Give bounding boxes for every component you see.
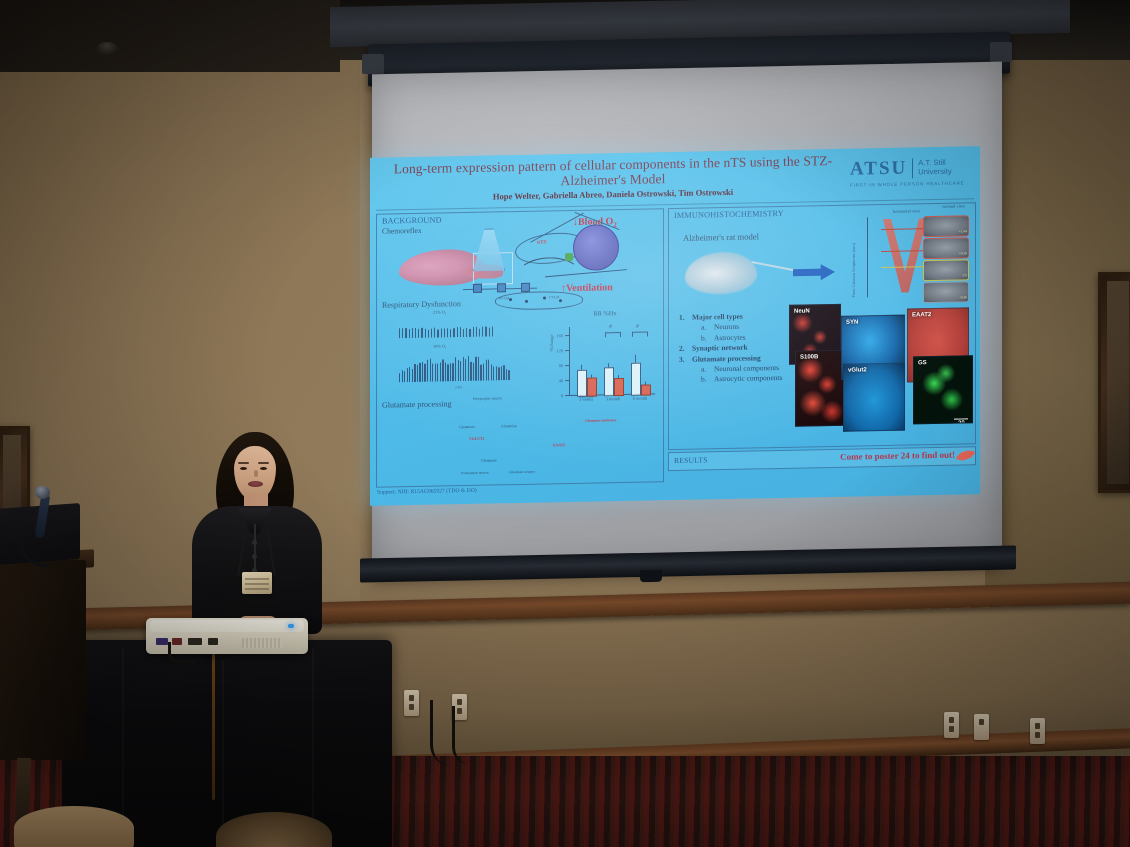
micrograph-gs: GS 20 µm xyxy=(913,355,973,424)
chart-significance-marker: # xyxy=(609,324,612,330)
trace-scalebar-label: 2 sec xyxy=(455,385,462,389)
respiratory-trace xyxy=(399,314,495,338)
chart-y-tick-label: 0 xyxy=(551,393,563,398)
chart-errorbar xyxy=(645,382,646,385)
rr-hypoxia-bar-chart: RR %Hx %change 040801201603 weeks3 month… xyxy=(553,319,657,413)
glutamate-label: Glutamate xyxy=(459,425,475,429)
funding-support-text: Support: NIH: R15AG065927 (TDO & DO) xyxy=(377,488,477,496)
screen-mount-bracket xyxy=(362,54,384,74)
candy-icon xyxy=(958,450,973,462)
chart-y-tick xyxy=(565,395,569,396)
eaat2-transporter-icon xyxy=(565,253,573,261)
respiratory-dysfunction-heading: Respiratory Dysfunction xyxy=(382,299,461,310)
wall-outlet xyxy=(1030,718,1045,744)
wall-outlet xyxy=(404,690,419,716)
presenter-nose xyxy=(254,470,258,477)
atsu-name-line2: University xyxy=(918,167,951,177)
arrow-right-icon xyxy=(793,264,835,281)
screen-pull-handle xyxy=(640,570,662,582)
brain-atlas-diagram: horizontal view coronal view From Calamu… xyxy=(849,209,969,303)
micrograph-s100b: S100B xyxy=(795,350,845,427)
projector-vent xyxy=(242,638,282,648)
respiratory-trace xyxy=(399,348,511,382)
chart-y-tick-label: 80 xyxy=(551,363,563,368)
chemoreflex-subheading: Chemoreflex xyxy=(382,226,422,236)
projector-port xyxy=(208,638,218,645)
chart-y-tick xyxy=(565,335,569,336)
vglut2-label: VGLUT2 xyxy=(469,437,484,441)
rat-model-label: Alzheimer's rat model xyxy=(683,231,759,242)
glutamine-label: Glutamine xyxy=(501,424,517,428)
rvlm-label: RVLM xyxy=(499,296,509,300)
scalebar: 20 µm xyxy=(954,417,968,420)
projector-port xyxy=(156,638,168,645)
chart-errorbar xyxy=(581,365,582,370)
atsu-wordmark: ATSU xyxy=(850,158,907,181)
coronal-view-label: coronal view xyxy=(942,203,965,208)
chart-title: RR %Hx xyxy=(553,309,657,318)
chart-y-tick-label: 40 xyxy=(551,378,563,383)
atsu-tagline: FIRST IN WHOLE PERSON HEALTHCARE xyxy=(850,180,972,187)
chart-significance-bracket xyxy=(605,332,621,337)
audience-chair xyxy=(14,806,134,847)
astrocyte-illustration xyxy=(573,224,619,271)
section-label: +0.36 xyxy=(959,251,967,255)
results-cta-text: Come to poster 24 to find out! xyxy=(840,450,955,462)
glutamate-receptor-label: Glutamate receptor xyxy=(509,470,535,475)
section-label: CS xyxy=(963,273,967,277)
trace-label-21: 21% O₂ xyxy=(433,309,446,314)
chart-y-tick-label: 120 xyxy=(551,348,563,353)
section-label: -0.36 xyxy=(960,295,968,299)
results-bar: RESULTS Come to poster 24 to find out! xyxy=(668,446,976,471)
background-panel: BACKGROUND Chemoreflex ↓Blood O2 ↑Ventil… xyxy=(376,208,664,488)
name-badge xyxy=(242,572,272,594)
podium xyxy=(0,560,86,760)
presentation-photo-scene: Long-term expression pattern of cellular… xyxy=(0,0,1130,847)
nts-label: nTS xyxy=(537,239,546,245)
picture-frame-art xyxy=(1107,281,1129,484)
ceiling-left xyxy=(0,0,340,72)
presynaptic-neuron-label: Presynaptic neuron xyxy=(473,396,502,401)
atlas-y-axis xyxy=(867,217,868,297)
chart-y-tick xyxy=(565,380,569,381)
coronal-section xyxy=(923,215,969,237)
projected-slide: Long-term expression pattern of cellular… xyxy=(370,146,980,506)
chart-category-label: 3 month xyxy=(599,396,627,402)
coronal-section xyxy=(923,259,969,281)
coronal-section xyxy=(923,281,969,303)
immunohistochemistry-heading: IMMUNOHISTOCHEMISTRY xyxy=(674,209,784,220)
vlm-outline xyxy=(495,291,583,311)
background-heading: BACKGROUND xyxy=(382,215,442,225)
glutamate-processing-heading: Glutamate processing xyxy=(382,399,452,409)
atlas-ylabel: From Calamus Scriptorius [mm] xyxy=(851,243,856,298)
chart-bar xyxy=(614,378,624,396)
drape-zipper xyxy=(212,650,215,800)
micrograph-vglut2: vGlut2 xyxy=(843,363,905,432)
glutamine-synthetase-label: Glutamine synthetase xyxy=(585,418,619,423)
synaptic-glutamate-label: Glutamate xyxy=(481,458,497,462)
wall-outlet xyxy=(944,712,959,738)
trace-label-10: 10% O₂ xyxy=(433,343,446,348)
chart-bar xyxy=(631,363,641,396)
presenter xyxy=(186,432,326,632)
results-label: RESULTS xyxy=(674,455,708,465)
chart-bar xyxy=(577,370,587,397)
wall-switch xyxy=(974,714,989,740)
presenter-mouth xyxy=(248,481,263,487)
screen-mount-bracket xyxy=(990,42,1012,62)
chart-significance-marker: # xyxy=(636,324,639,330)
immunohistochemistry-panel: IMMUNOHISTOCHEMISTRY Alzheimer's rat mod… xyxy=(668,202,976,450)
chart-significance-bracket xyxy=(632,332,648,337)
ceiling-speaker-icon xyxy=(96,42,118,55)
rat-tail xyxy=(751,261,794,271)
chart-bar xyxy=(641,384,651,395)
chart-errorbar xyxy=(618,375,619,378)
chart-category-label: 6 month xyxy=(626,395,654,401)
power-led-indicator xyxy=(288,624,294,628)
chart-y-axis xyxy=(569,327,570,395)
horizontal-view-label: horizontal view xyxy=(893,208,920,214)
projector-cable xyxy=(168,642,195,663)
picture-frame xyxy=(1098,272,1130,493)
chart-bar xyxy=(604,367,614,396)
astrocyte-label: Astrocyte xyxy=(579,395,594,399)
projector-top xyxy=(150,620,304,632)
coronal-section xyxy=(923,237,969,259)
findings-list: 1.Major cell typesa.Neuronsb.Astrocytes2… xyxy=(679,311,803,386)
chart-y-tick xyxy=(565,350,569,351)
chart-y-tick-label: 160 xyxy=(551,333,563,338)
cvlm-label: CVLM xyxy=(549,295,559,299)
rat-photo xyxy=(685,251,757,294)
power-cable xyxy=(452,706,469,764)
chart-y-tick xyxy=(565,365,569,366)
chart-errorbar xyxy=(608,363,609,367)
power-cable xyxy=(430,700,451,766)
chart-errorbar xyxy=(635,355,636,363)
postsynaptic-neuron-label: Postsynaptic neuron xyxy=(461,471,488,476)
eaat2-label: EAAT2 xyxy=(553,443,565,447)
chart-errorbar xyxy=(591,375,592,378)
section-label: +1.44 xyxy=(959,229,967,233)
atsu-logo: ATSUA.T. StillUniversity FIRST IN WHOLE … xyxy=(850,156,972,187)
findings-sublist-item: b.Astrocytic components xyxy=(679,373,803,386)
